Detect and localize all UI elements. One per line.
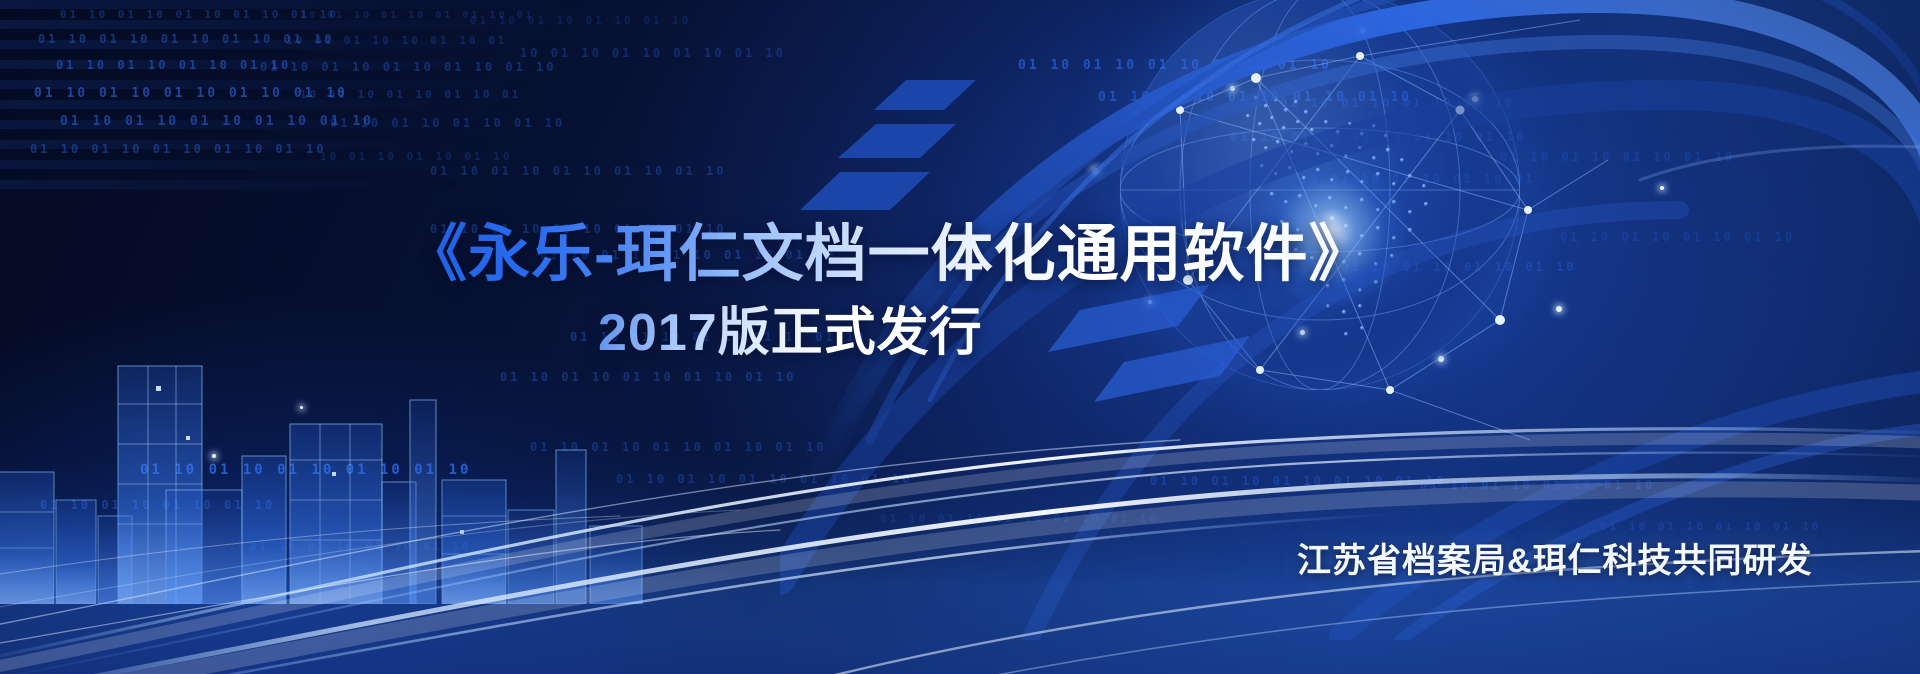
- banner-hero: 01 10 01 10 01 10 01 10 01 1010 01 10 01…: [0, 0, 1920, 674]
- binary-code-row: 01 10 01 10 01 10 01 10: [1280, 96, 1515, 110]
- binary-code-row: 01 10 01 10 01 10 01 10 01 10: [38, 32, 335, 46]
- star-dot-icon: [1230, 86, 1235, 91]
- binary-code-row: 01 10 01 10 01 10 01 10 01 10: [260, 60, 557, 74]
- binary-code-row: 01 10 01 10 01 10 01 10: [40, 498, 275, 512]
- binary-code-row: 01 10 01 10 01 10 01 10 01 10: [34, 86, 348, 101]
- binary-code-row: 01 10 01 10 01 10 01 10 01 10: [1230, 130, 1527, 144]
- page-title: 《永乐-珥仁文档一体化通用软件》: [405, 203, 1372, 293]
- star-dot-icon: [212, 454, 216, 458]
- star-dot-icon: [1300, 330, 1305, 335]
- binary-code-row: 10 01 01 10 10 01 10 01: [286, 34, 507, 47]
- star-dot-icon: [1438, 356, 1444, 362]
- binary-code-row: 01 10 01 10 01 10 01 10 01 10: [140, 462, 471, 478]
- star-dot-icon: [1148, 300, 1152, 304]
- binary-code-row: 01 10 01 10 01 10 01 10: [1500, 150, 1735, 164]
- star-dot-icon: [1472, 96, 1478, 102]
- binary-code-row: 10 01 10 01 10 01 10 01: [1300, 172, 1535, 186]
- binary-code-row: 01 10 01 10 01 10 01 10 01 10: [60, 8, 339, 21]
- binary-code-row: 10 01 10 01 10 01 01 10 01: [300, 10, 535, 21]
- binary-code-row: 01 10 01 10 01 10 01 10 01 10: [1150, 474, 1447, 488]
- binary-code-row: 10 01 10 01 10 01 10 01 10: [520, 46, 786, 60]
- binary-code-row: 01 10 01 10 01 10 01 10 01 10: [500, 370, 797, 384]
- binary-code-row: 01 10 01 10 01 10 01 10: [330, 116, 565, 130]
- star-dot-icon: [1092, 168, 1099, 175]
- binary-code-row: 01 10 01 10 01 10 01 10: [1560, 230, 1795, 244]
- scanline-texture-block: [0, 0, 620, 200]
- binary-code-row: 01 10 01 10 01 10 01 10 01 10: [60, 114, 374, 129]
- tagline: 江苏省档案局&珥仁科技共同研发: [1297, 533, 1813, 582]
- binary-code-row: 01 10 01 10 01 10 01 10 01 10: [430, 164, 727, 178]
- star-dot-icon: [1360, 28, 1365, 33]
- globe-sphere: [1120, 0, 1520, 390]
- binary-code-row: 01 10 01 10 01 10 01 10 01 10: [880, 512, 1159, 525]
- star-dot-icon: [1556, 306, 1562, 312]
- binary-code-row: 01 10 01 10 01 10 01 10 01 10: [1098, 90, 1412, 105]
- binary-code-row: 01 10 01 10 01 10 01 10: [56, 58, 291, 72]
- binary-code-row: 01 10 01 10 01 10 01 10: [1600, 520, 1821, 533]
- binary-code-row: 01 10 01 10 01 10 01 10: [250, 540, 471, 553]
- binary-code-row: 01 10 01 10 01 10 01 10 01 10: [1018, 58, 1332, 73]
- page-subtitle: 2017版正式发行: [598, 290, 983, 365]
- binary-code-row: 10 01 10 01 10 01 10: [320, 150, 512, 163]
- light-streaks-graphic: [0, 364, 1920, 674]
- binary-code-row: 01 10 01 10 01 10 01 10 01 10: [616, 472, 913, 486]
- binary-code-row: 01 10 01 10 01 10 01 10 01 10: [530, 440, 827, 454]
- binary-code-row: 01 10 01 10 01 10 01 10 01 10: [30, 142, 327, 156]
- binary-code-row: 01 10 01 10 01 10 01 10: [470, 14, 691, 27]
- binary-code-row: 01 10 01 10 01 10 01 10: [1420, 478, 1655, 492]
- binary-code-row: 10 01 10 01 10 01 10 01: [300, 88, 521, 101]
- star-dot-icon: [300, 406, 303, 409]
- star-dot-icon: [1660, 186, 1664, 190]
